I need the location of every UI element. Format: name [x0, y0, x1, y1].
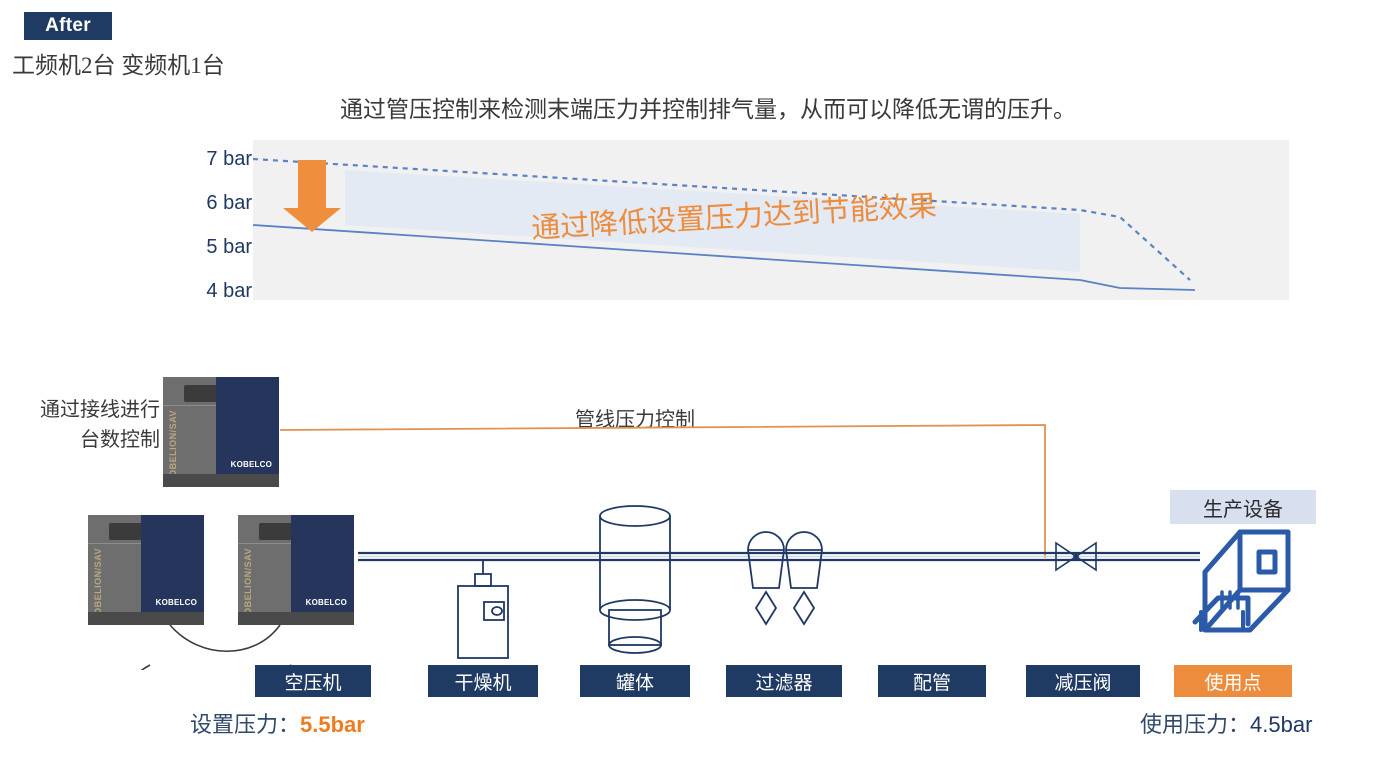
use-pressure-label: 使用压力：	[1140, 712, 1250, 737]
pressure-drop-arrow	[283, 160, 341, 232]
equipment-label-point-of-use: 使用点	[1174, 665, 1292, 697]
set-pressure-label: 设置压力：	[190, 712, 300, 737]
axis-tick-6bar: 6 bar	[190, 192, 252, 215]
wiring-arc-left	[116, 665, 160, 670]
equipment-label-piping: 配管	[878, 665, 986, 697]
wiring-arc-bottom	[170, 625, 280, 651]
equipment-label-filter: 过滤器	[726, 665, 842, 697]
filter-icon-1	[748, 532, 784, 624]
axis-tick-5bar: 5 bar	[190, 236, 252, 259]
after-badge: After	[24, 12, 112, 40]
equipment-label-dryer: 干燥机	[428, 665, 538, 697]
production-equipment-label: 生产设备	[1170, 490, 1316, 524]
axis-tick-7bar: 7 bar	[190, 148, 252, 171]
pressure-control-signal-line	[280, 425, 1045, 558]
set-pressure-value: 5.5bar	[300, 712, 365, 737]
set-pressure-readout: 设置压力：5.5bar	[190, 707, 365, 739]
machine-count-subtitle: 工频机2台 变频机1台	[12, 46, 225, 80]
dryer-icon	[458, 560, 508, 658]
axis-tick-4bar: 4 bar	[190, 280, 252, 303]
air-tank-icon	[600, 506, 670, 653]
filter-icon-2	[786, 532, 822, 624]
use-pressure-value: 4.5bar	[1250, 712, 1312, 737]
chart-title: 通过管压控制来检测末端压力并控制排气量，从而可以降低无谓的压升。	[340, 90, 1076, 124]
production-equipment-icon	[1195, 532, 1288, 630]
use-pressure-readout: 使用压力：4.5bar	[1140, 707, 1312, 739]
equipment-label-reducing-valve: 减压阀	[1026, 665, 1140, 697]
equipment-label-tank: 罐体	[580, 665, 690, 697]
equipment-label-compressor: 空压机	[255, 665, 371, 697]
